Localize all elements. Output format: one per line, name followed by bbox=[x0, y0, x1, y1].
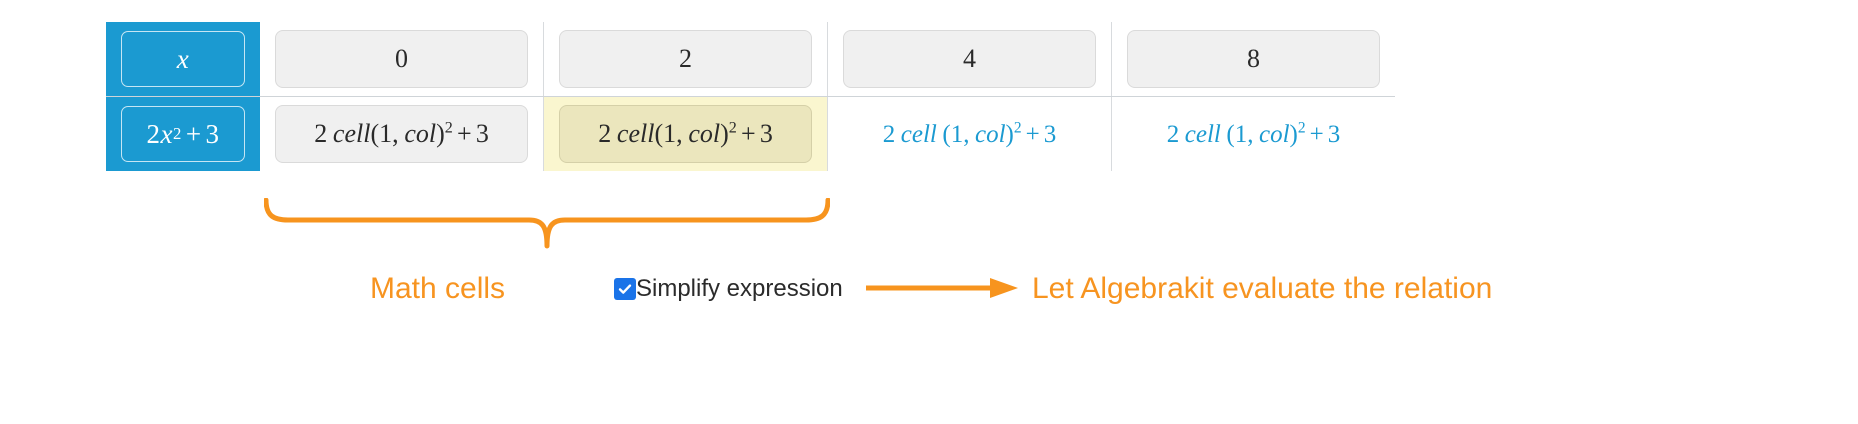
header-cell-col2: 4 bbox=[828, 22, 1112, 97]
math-cell-formula-col1: 2cell(1,col)2+3 bbox=[598, 121, 773, 147]
value-cell-col2: 2cell(1,col)2+3 bbox=[828, 97, 1112, 172]
annotation-evaluate-relation: Let Algebrakit evaluate the relation bbox=[1032, 272, 1492, 306]
row-label-x-text: x bbox=[177, 46, 189, 73]
formula-operator: + bbox=[737, 119, 760, 148]
formula-function: cell bbox=[617, 119, 655, 148]
value-cell-col1: 2cell(1,col)2+3 bbox=[544, 97, 828, 172]
row-label-x-cell: x bbox=[106, 22, 260, 97]
formula-coefficient: 2 bbox=[1167, 121, 1180, 148]
x-input-col3[interactable]: 8 bbox=[1127, 30, 1380, 88]
formula-function: cell bbox=[333, 119, 371, 148]
table-row: x 0 2 4 bbox=[106, 22, 1395, 97]
formula-exponent: 2 bbox=[445, 119, 453, 136]
checkmark-icon bbox=[617, 281, 633, 297]
row-label-expression-cell: 2x2+3 bbox=[106, 97, 260, 172]
formula-constant: 3 bbox=[1044, 121, 1057, 148]
x-value-col2: 4 bbox=[963, 46, 976, 72]
formula-function: cell bbox=[901, 121, 937, 148]
x-value-col0: 0 bbox=[395, 46, 408, 72]
formula-constant: 3 bbox=[1328, 121, 1341, 148]
formula-constant: 3 bbox=[476, 119, 489, 148]
math-cell-input-col0[interactable]: 2cell(1,col)2+3 bbox=[275, 105, 528, 163]
formula-function: cell bbox=[1185, 121, 1221, 148]
simplify-checkbox-label: Simplify expression bbox=[636, 275, 843, 303]
math-cell-evaluated-col3[interactable]: 2cell(1,col)2+3 bbox=[1167, 121, 1340, 148]
row-label-x-box[interactable]: x bbox=[121, 31, 245, 87]
table-row: 2x2+3 2cell(1,col)2+3 2cell(1,col)2+3 bbox=[106, 97, 1395, 172]
math-cell-evaluated-col2[interactable]: 2cell(1,col)2+3 bbox=[883, 121, 1056, 148]
formula-arg-row: 1 bbox=[379, 119, 392, 148]
header-cell-col1: 2 bbox=[544, 22, 828, 97]
row-label-expression-box[interactable]: 2x2+3 bbox=[121, 106, 245, 162]
value-cell-col3: 2cell(1,col)2+3 bbox=[1112, 97, 1396, 172]
curly-brace-icon bbox=[264, 198, 830, 254]
simplify-expression-row[interactable]: Simplify expression bbox=[614, 275, 843, 303]
math-cell-formula-col0: 2cell(1,col)2+3 bbox=[314, 121, 489, 147]
formula-exponent: 2 bbox=[1014, 119, 1022, 136]
x-value-col1: 2 bbox=[679, 46, 692, 72]
formula-coefficient: 2 bbox=[314, 119, 327, 148]
x-input-col2[interactable]: 4 bbox=[843, 30, 1096, 88]
annotation-math-cells: Math cells bbox=[370, 272, 505, 306]
header-cell-col3: 8 bbox=[1112, 22, 1396, 97]
x-input-col1[interactable]: 2 bbox=[559, 30, 812, 88]
formula-arg-row: 1 bbox=[951, 121, 964, 148]
math-cell-input-col1[interactable]: 2cell(1,col)2+3 bbox=[559, 105, 812, 163]
formula-operator: + bbox=[1306, 121, 1328, 148]
formula-exponent: 2 bbox=[729, 119, 737, 136]
formula-arg-col: col bbox=[404, 119, 436, 148]
formula-arg-row: 1 bbox=[1235, 121, 1248, 148]
formula-arg-col: col bbox=[1259, 121, 1290, 148]
simplify-checkbox[interactable] bbox=[614, 278, 636, 300]
screenshot-stage: x 0 2 4 bbox=[0, 0, 1858, 424]
formula-arg-row: 1 bbox=[663, 119, 676, 148]
x-value-col3: 8 bbox=[1247, 46, 1260, 72]
expression-variable: x bbox=[160, 121, 172, 148]
value-cell-col0: 2cell(1,col)2+3 bbox=[260, 97, 544, 172]
formula-coefficient: 2 bbox=[883, 121, 896, 148]
expression-constant: 3 bbox=[206, 121, 220, 148]
x-input-col0[interactable]: 0 bbox=[275, 30, 528, 88]
expression-operator: + bbox=[182, 121, 206, 148]
formula-arg-col: col bbox=[688, 119, 720, 148]
relation-table: x 0 2 4 bbox=[106, 22, 1395, 171]
relation-table-container: x 0 2 4 bbox=[106, 22, 1395, 171]
expression-coefficient: 2 bbox=[146, 121, 160, 148]
formula-coefficient: 2 bbox=[598, 119, 611, 148]
formula-constant: 3 bbox=[760, 119, 773, 148]
right-arrow-icon bbox=[866, 272, 1022, 304]
formula-arg-col: col bbox=[975, 121, 1006, 148]
header-cell-col0: 0 bbox=[260, 22, 544, 97]
formula-operator: + bbox=[453, 119, 476, 148]
formula-exponent: 2 bbox=[1298, 119, 1306, 136]
formula-operator: + bbox=[1022, 121, 1044, 148]
